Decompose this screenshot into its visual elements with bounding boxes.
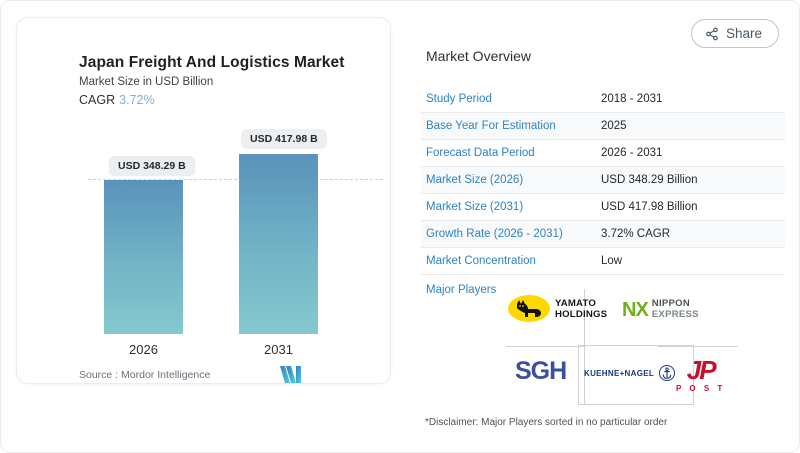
major-players-logo-grid: YAMATO HOLDINGS NX NIPPON EXPRESS SGH KU… (506, 289, 738, 405)
sgh-mark: SGH (515, 359, 566, 384)
logo-nippon-express: NX NIPPON EXPRESS (622, 299, 699, 320)
nx-line1: NIPPON (652, 299, 699, 310)
bar-2026[interactable] (104, 180, 183, 334)
logo-yamato-holdings: YAMATO HOLDINGS (508, 295, 607, 322)
bar-label-2026: USD 348.29 B (109, 156, 195, 176)
table-row: Growth Rate (2026 - 2031) 3.72% CAGR (421, 221, 785, 248)
share-button-label: Share (726, 26, 762, 41)
bar-label-2031: USD 417.98 B (241, 129, 327, 149)
yamato-line2: HOLDINGS (555, 309, 607, 320)
x-tick-2026: 2026 (104, 342, 183, 357)
row-value: USD 348.29 Billion (601, 174, 698, 186)
yamato-line1: YAMATO (555, 298, 607, 309)
row-value: Low (601, 255, 622, 267)
table-row: Market Concentration Low (421, 248, 785, 275)
table-row: Base Year For Estimation 2025 (421, 113, 785, 140)
table-row: Market Size (2026) USD 348.29 Billion (421, 167, 785, 194)
yamato-cat-icon (508, 295, 550, 322)
logo-sgh: SGH (515, 359, 566, 384)
chart-card: Japan Freight And Logistics Market Marke… (16, 17, 391, 384)
row-value: USD 417.98 Billion (601, 201, 698, 213)
players-disclaimer: *Disclaimer: Major Players sorted in no … (425, 417, 667, 428)
chart-source: Source : Mordor Intelligence (79, 369, 210, 381)
market-report-page: Share Japan Freight And Logistics Market… (0, 0, 800, 453)
market-overview-title: Market Overview (426, 48, 531, 64)
yamato-wordmark: YAMATO HOLDINGS (555, 298, 607, 320)
mordor-intelligence-logo (280, 366, 305, 388)
bar-2031[interactable] (239, 154, 318, 334)
nx-line2: EXPRESS (652, 310, 699, 321)
nx-mark: NX (622, 300, 648, 320)
major-players-label: Major Players (426, 284, 496, 296)
grid-line (506, 346, 586, 347)
kuehne-nagel-mark: KUEHNE+NAGEL (584, 369, 654, 378)
anchor-icon (659, 365, 675, 381)
row-label: Market Concentration (426, 255, 601, 267)
x-tick-2031: 2031 (239, 342, 318, 357)
market-overview-table: Study Period 2018 - 2031 Base Year For E… (421, 86, 785, 275)
row-value: 2018 - 2031 (601, 93, 662, 105)
row-value: 2025 (601, 120, 627, 132)
row-value: 3.72% CAGR (601, 228, 670, 240)
share-button[interactable]: Share (691, 19, 779, 48)
logo-jp-post: JP P O S T (676, 357, 725, 393)
row-label: Study Period (426, 93, 601, 105)
table-row: Market Size (2031) USD 417.98 Billion (421, 194, 785, 221)
nippon-express-wordmark: NIPPON EXPRESS (652, 299, 699, 320)
share-nodes-icon (705, 27, 719, 41)
jp-post-wordmark: P O S T (676, 384, 725, 393)
jp-mark: JP (687, 357, 715, 383)
row-label: Growth Rate (2026 - 2031) (426, 228, 601, 240)
table-row: Study Period 2018 - 2031 (421, 86, 785, 113)
row-label: Market Size (2031) (426, 201, 601, 213)
logo-kuehne-nagel: KUEHNE+NAGEL (584, 365, 675, 381)
row-label: Forecast Data Period (426, 147, 601, 159)
row-value: 2026 - 2031 (601, 147, 662, 159)
row-label: Market Size (2026) (426, 174, 601, 186)
row-label: Base Year For Estimation (426, 120, 601, 132)
bar-chart-plot: USD 348.29 B USD 417.98 B 2026 2031 (17, 18, 392, 385)
table-row: Forecast Data Period 2026 - 2031 (421, 140, 785, 167)
